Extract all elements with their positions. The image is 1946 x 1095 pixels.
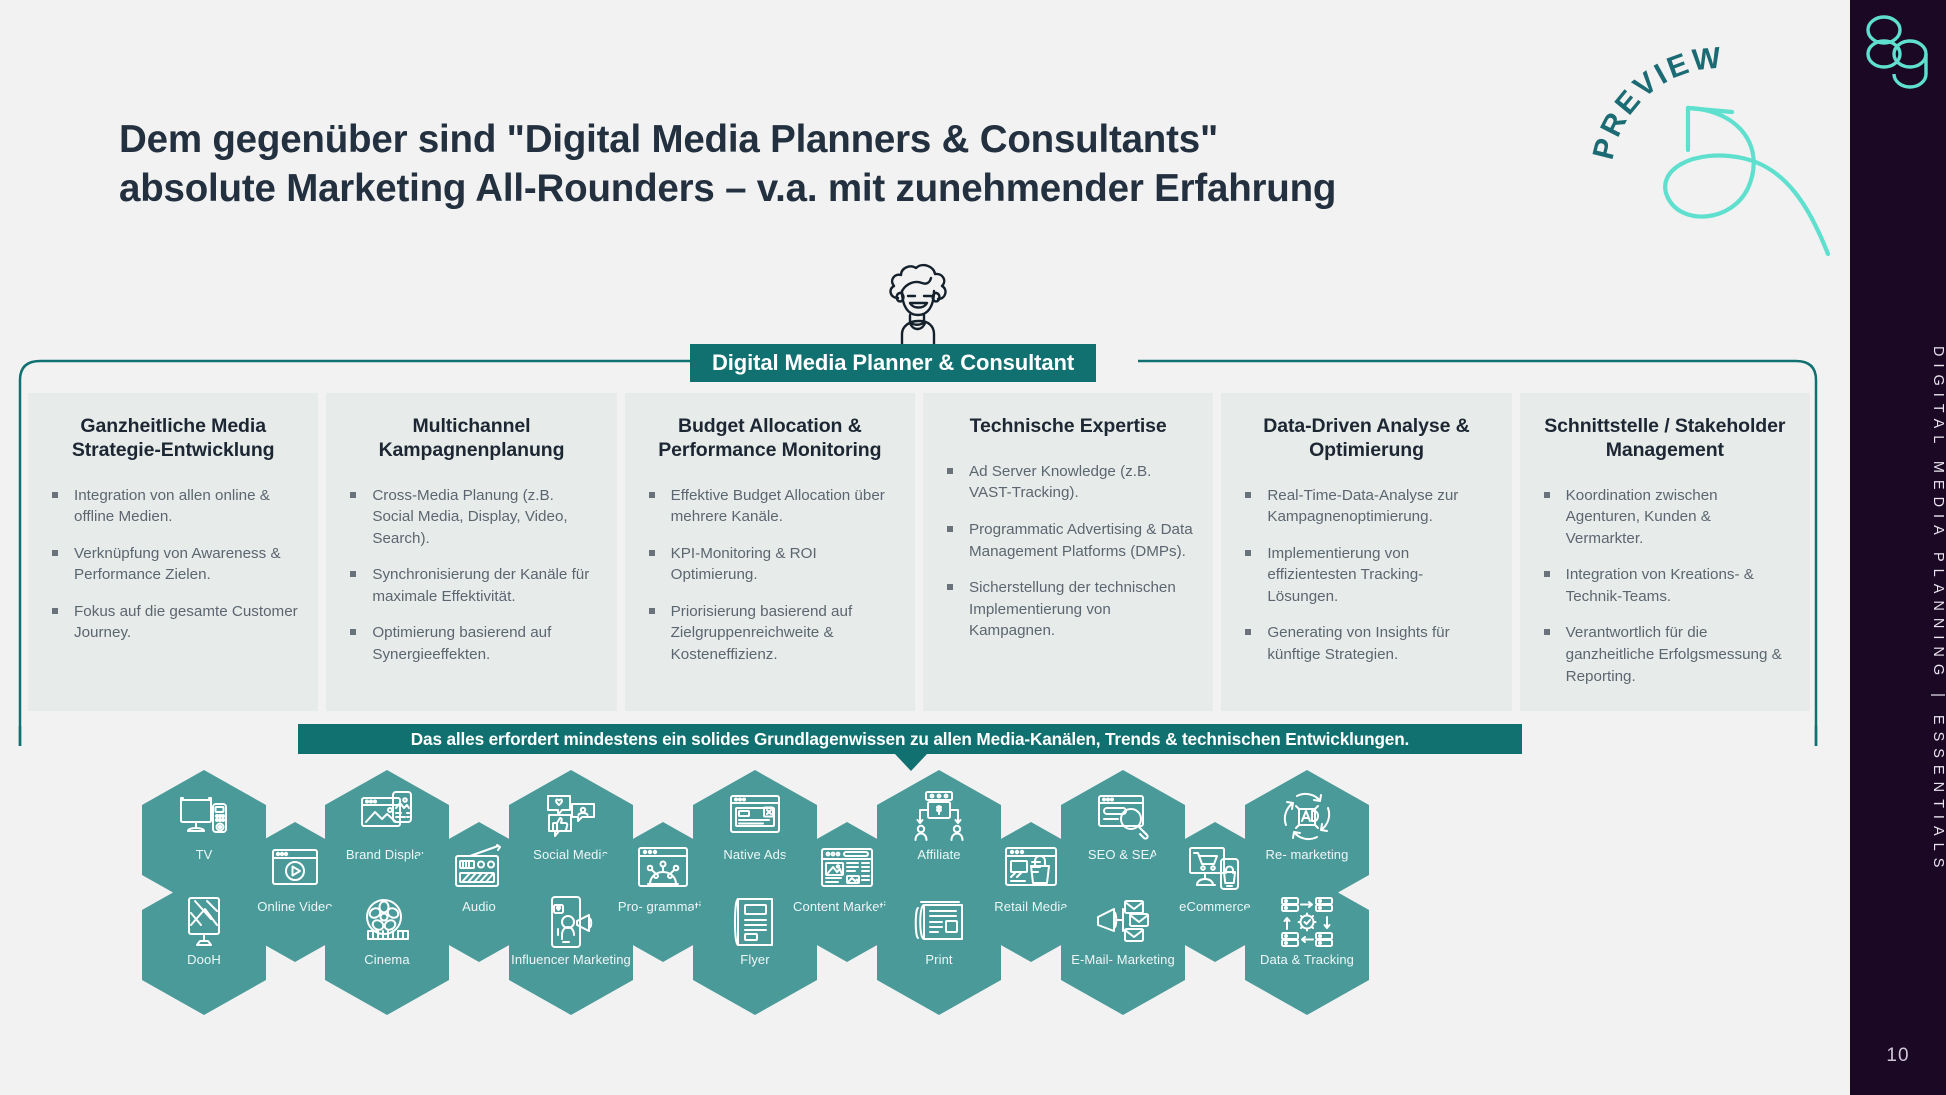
bullet-item: Integration von Kreations- & Technik-Tea…	[1540, 564, 1790, 607]
hex-label: E-Mail- Marketing	[1071, 953, 1175, 968]
native-ads-icon	[728, 790, 782, 844]
card-bullets: Koordination zwischen Agenturen, Kunden …	[1540, 485, 1790, 688]
bullet-item: Priorisierung basierend auf Zielgruppenr…	[645, 601, 895, 666]
online-video-icon	[268, 842, 322, 896]
hex-label: Re- marketing	[1266, 848, 1349, 863]
card-title: Multichannel Kampagnenplanung	[346, 415, 596, 463]
print-icon	[912, 895, 966, 949]
hex-label: Native Ads	[723, 848, 786, 863]
bullet-item: Programmatic Advertising & Data Manageme…	[943, 519, 1193, 562]
section-title-badge: Digital Media Planner & Consultant	[690, 344, 1096, 382]
headline-line-2: absolute Marketing All-Rounders – v.a. m…	[119, 164, 1729, 213]
bullet-item: Koordination zwischen Agenturen, Kunden …	[1540, 485, 1790, 550]
capability-card: Budget Allocation & Performance Monitori…	[625, 393, 915, 711]
influencer-icon	[544, 895, 598, 949]
bullet-item: Optimierung basierend auf Synergieeffekt…	[346, 622, 596, 665]
card-title: Data-Driven Analyse & Optimierung	[1241, 415, 1491, 463]
brand-logo-icon	[1864, 14, 1930, 106]
capability-card: Technische Expertise Ad Server Knowledge…	[923, 393, 1213, 711]
hex-label: Data & Tracking	[1260, 953, 1354, 968]
bullet-item: Sicherstellung der technischen Implement…	[943, 577, 1193, 642]
card-title: Technische Expertise	[943, 415, 1193, 439]
capability-cards: Ganzheitliche Media Strategie-Entwicklun…	[28, 393, 1810, 711]
hex-label: Cinema	[364, 953, 409, 968]
hex-label: Flyer	[740, 953, 769, 968]
card-title: Budget Allocation & Performance Monitori…	[645, 415, 895, 463]
bullet-item: Ad Server Knowledge (z.B. VAST-Tracking)…	[943, 461, 1193, 504]
hex-label: Social Media	[533, 848, 609, 863]
content-marketing-icon	[820, 842, 874, 896]
remarketing-icon	[1280, 790, 1334, 844]
audio-icon	[452, 842, 506, 896]
hex-label: SEO & SEA	[1088, 848, 1158, 863]
brand-sidebar: DIGITAL MEDIA PLANNING | ESSENTIALS 10	[1850, 0, 1946, 1095]
social-media-icon	[544, 790, 598, 844]
hex-label: DooH	[187, 953, 221, 968]
hex-label: Audio	[462, 900, 496, 915]
bullet-item: Fokus auf die gesamte Customer Journey.	[48, 601, 298, 644]
capability-card: Data-Driven Analyse & Optimierung Real-T…	[1221, 393, 1511, 711]
ecommerce-icon	[1188, 842, 1242, 896]
bullet-item: KPI-Monitoring & ROI Optimierung.	[645, 543, 895, 586]
hex-label: Print	[925, 953, 952, 968]
knowledge-banner-wrap: Das alles erfordert mindestens ein solid…	[0, 724, 1810, 772]
slide-root: Dem gegenüber sind "Digital Media Planne…	[0, 0, 1946, 1095]
card-bullets: Ad Server Knowledge (z.B. VAST-Tracking)…	[943, 461, 1193, 642]
hex-label: Brand Display	[346, 848, 428, 863]
hex-label: Affiliate	[917, 848, 960, 863]
bullet-item: Implementierung von effizientesten Track…	[1241, 543, 1491, 608]
card-bullets: Integration von allen online & offline M…	[48, 485, 298, 644]
hex-label: Retail Media	[994, 900, 1067, 915]
sidebar-vertical-label: DIGITAL MEDIA PLANNING | ESSENTIALS	[1850, 330, 1946, 890]
headline-line-1: Dem gegenüber sind "Digital Media Planne…	[119, 115, 1729, 164]
flyer-icon	[728, 895, 782, 949]
avatar	[872, 258, 968, 348]
bullet-item: Real-Time-Data-Analyse zur Kampagnenopti…	[1241, 485, 1491, 528]
retail-media-icon	[1004, 842, 1058, 896]
hex-label: TV	[196, 848, 213, 863]
card-title: Ganzheitliche Media Strategie-Entwicklun…	[48, 415, 298, 463]
page-number: 10	[1850, 1045, 1946, 1067]
bullet-item: Verantwortlich für die ganzheitliche Erf…	[1540, 622, 1790, 687]
bullet-item: Synchronisierung der Kanäle für maximale…	[346, 564, 596, 607]
programmatic-icon	[636, 842, 690, 896]
hex-label: eCommerce	[1179, 900, 1251, 915]
card-bullets: Cross-Media Planung (z.B. Social Media, …	[346, 485, 596, 666]
seo-sea-icon	[1096, 790, 1150, 844]
card-title: Schnittstelle / Stakeholder Management	[1540, 415, 1790, 463]
affiliate-icon	[912, 790, 966, 844]
card-bullets: Effektive Budget Allocation über mehrere…	[645, 485, 895, 666]
capability-card: Schnittstelle / Stakeholder Management K…	[1520, 393, 1810, 711]
hex-label: Influencer Marketing	[511, 953, 631, 968]
bullet-item: Integration von allen online & offline M…	[48, 485, 298, 528]
bullet-item: Verknüpfung von Awareness & Performance …	[48, 543, 298, 586]
bullet-item: Generating von Insights für künftige Str…	[1241, 622, 1491, 665]
knowledge-banner: Das alles erfordert mindestens ein solid…	[298, 724, 1522, 754]
data-tracking-icon	[1280, 895, 1334, 949]
channel-hex-grid: TV DooH	[0, 770, 1810, 1080]
email-marketing-icon	[1096, 895, 1150, 949]
bullet-item: Cross-Media Planung (z.B. Social Media, …	[346, 485, 596, 550]
cinema-icon	[360, 895, 414, 949]
brand-display-icon	[360, 790, 414, 844]
page-title: Dem gegenüber sind "Digital Media Planne…	[119, 115, 1729, 214]
banner-arrow-icon	[895, 754, 927, 771]
card-bullets: Real-Time-Data-Analyse zur Kampagnenopti…	[1241, 485, 1491, 666]
hex-label: Online Video	[257, 900, 332, 915]
bullet-item: Effektive Budget Allocation über mehrere…	[645, 485, 895, 528]
tv-icon	[177, 790, 231, 844]
capability-card: Ganzheitliche Media Strategie-Entwicklun…	[28, 393, 318, 711]
capability-card: Multichannel Kampagnenplanung Cross-Medi…	[326, 393, 616, 711]
dooh-icon	[177, 895, 231, 949]
